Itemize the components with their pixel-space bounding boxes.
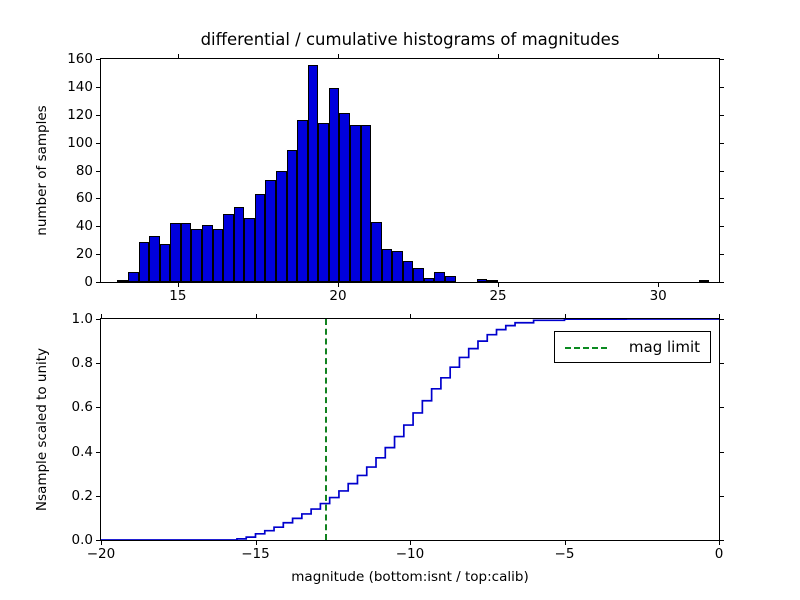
- y-tick: [96, 115, 101, 116]
- bottom-x-axis-label: magnitude (bottom:isnt / top:calib): [100, 569, 720, 585]
- legend-label-mag-limit: mag limit: [629, 338, 700, 356]
- y-tick-label: 0: [84, 274, 93, 290]
- y-tick-label: 100: [67, 135, 93, 151]
- histogram-bar: [339, 113, 350, 282]
- y-tick-label: 60: [76, 190, 93, 206]
- histogram-bar: [170, 223, 181, 282]
- histogram-bar: [477, 279, 488, 282]
- histogram-bar: [413, 268, 424, 282]
- x-tick-label: 30: [650, 288, 667, 304]
- y-tick: [96, 319, 101, 320]
- y-tick-label: 80: [76, 163, 93, 179]
- x-tick: [565, 540, 566, 545]
- y-tick-right: [719, 254, 724, 255]
- x-tick: [338, 282, 339, 287]
- x-tick: [498, 282, 499, 287]
- x-tick-top: [565, 314, 566, 319]
- x-tick: [101, 540, 102, 545]
- histogram-bar: [445, 276, 456, 282]
- histogram-bar: [191, 229, 202, 282]
- y-tick-label: 20: [76, 246, 93, 262]
- x-tick-label: −5: [555, 546, 575, 562]
- histogram-bar: [244, 218, 255, 282]
- x-tick-top: [338, 54, 339, 59]
- histogram-bar: [699, 280, 710, 282]
- y-tick-label: 120: [67, 107, 93, 123]
- histogram-bar: [265, 180, 276, 282]
- figure-canvas: differential / cumulative histograms of …: [0, 0, 800, 600]
- legend: mag limit: [554, 331, 711, 363]
- histogram-bar: [487, 280, 498, 282]
- x-tick-label: −10: [396, 546, 425, 562]
- histogram-bar: [382, 249, 393, 282]
- y-tick-right: [719, 115, 724, 116]
- histogram-bar: [160, 244, 171, 282]
- histogram-bar: [202, 225, 213, 282]
- histogram-bar: [223, 214, 234, 282]
- y-tick: [96, 254, 101, 255]
- y-tick-label: 0.4: [72, 444, 93, 460]
- top-axes-histogram: 02040608010012014016015202530: [100, 58, 720, 283]
- histogram-bar: [297, 120, 308, 282]
- histogram-bar: [234, 207, 245, 282]
- y-tick: [96, 59, 101, 60]
- histogram-bar: [318, 123, 329, 282]
- y-tick: [96, 363, 101, 364]
- y-tick: [96, 171, 101, 172]
- y-tick: [96, 407, 101, 408]
- x-tick-label: 15: [169, 288, 186, 304]
- histogram-bar: [434, 272, 445, 282]
- y-tick-right: [719, 143, 724, 144]
- bottom-y-axis-label: Nsample scaled to unity: [34, 318, 50, 541]
- y-tick-label: 0.6: [72, 399, 93, 415]
- mag-limit-dash-icon: [565, 340, 607, 354]
- y-tick: [96, 87, 101, 88]
- y-tick: [96, 226, 101, 227]
- y-tick-right: [719, 59, 724, 60]
- x-tick-label: 25: [489, 288, 506, 304]
- histogram-bar: [308, 65, 319, 282]
- y-tick: [96, 198, 101, 199]
- histogram-bar: [424, 278, 435, 282]
- y-tick: [96, 143, 101, 144]
- y-tick-right: [719, 87, 724, 88]
- histogram-bar: [287, 150, 298, 282]
- histogram-bar: [329, 88, 340, 282]
- histogram-bar: [255, 194, 266, 282]
- bottom-axes-cumulative: mag limit 0.00.20.40.60.81.0−20−15−10−50: [100, 318, 720, 541]
- x-tick-top: [256, 314, 257, 319]
- y-tick: [96, 452, 101, 453]
- y-tick-label: 1.0: [72, 311, 93, 327]
- x-tick: [178, 282, 179, 287]
- y-tick: [96, 282, 101, 283]
- histogram-bar: [213, 229, 224, 282]
- y-tick-right: [719, 407, 724, 408]
- x-tick-label: 0: [715, 546, 724, 562]
- y-tick-label: 40: [76, 218, 93, 234]
- histogram-bar: [117, 280, 128, 282]
- histogram-bar: [128, 272, 139, 282]
- histogram-bar: [181, 223, 192, 282]
- histogram-bar: [392, 251, 403, 282]
- y-tick-label: 0.8: [72, 355, 93, 371]
- x-tick-top: [498, 54, 499, 59]
- y-tick-right: [719, 171, 724, 172]
- figure-title: differential / cumulative histograms of …: [100, 30, 720, 49]
- y-tick-label: 140: [67, 79, 93, 95]
- y-tick-label: 160: [67, 51, 93, 67]
- y-tick-right: [719, 198, 724, 199]
- histogram-bar: [371, 222, 382, 282]
- top-y-axis-label: number of samples: [34, 58, 50, 283]
- histogram-bar: [361, 125, 372, 282]
- y-tick-right: [719, 226, 724, 227]
- y-tick: [96, 496, 101, 497]
- x-tick-top: [178, 54, 179, 59]
- y-tick-label: 0.2: [72, 488, 93, 504]
- histogram-bar: [350, 125, 361, 282]
- y-tick-right: [719, 363, 724, 364]
- x-tick-top: [410, 314, 411, 319]
- y-tick-right: [719, 282, 724, 283]
- x-tick-label: 20: [329, 288, 346, 304]
- y-tick-right: [719, 452, 724, 453]
- y-tick-right: [719, 319, 724, 320]
- histogram-bar: [139, 242, 150, 282]
- x-tick: [256, 540, 257, 545]
- x-tick: [410, 540, 411, 545]
- top-plot-area: [101, 59, 719, 282]
- histogram-bar: [403, 261, 414, 282]
- x-tick: [719, 540, 720, 545]
- x-tick-label: −15: [241, 546, 270, 562]
- histogram-bar: [276, 171, 287, 283]
- x-tick-label: −20: [87, 546, 116, 562]
- histogram-bar: [149, 236, 160, 282]
- mag-limit-vline: [325, 319, 327, 540]
- x-tick-top: [101, 314, 102, 319]
- y-tick-right: [719, 496, 724, 497]
- x-tick-top: [719, 314, 720, 319]
- x-tick: [658, 282, 659, 287]
- x-tick-top: [658, 54, 659, 59]
